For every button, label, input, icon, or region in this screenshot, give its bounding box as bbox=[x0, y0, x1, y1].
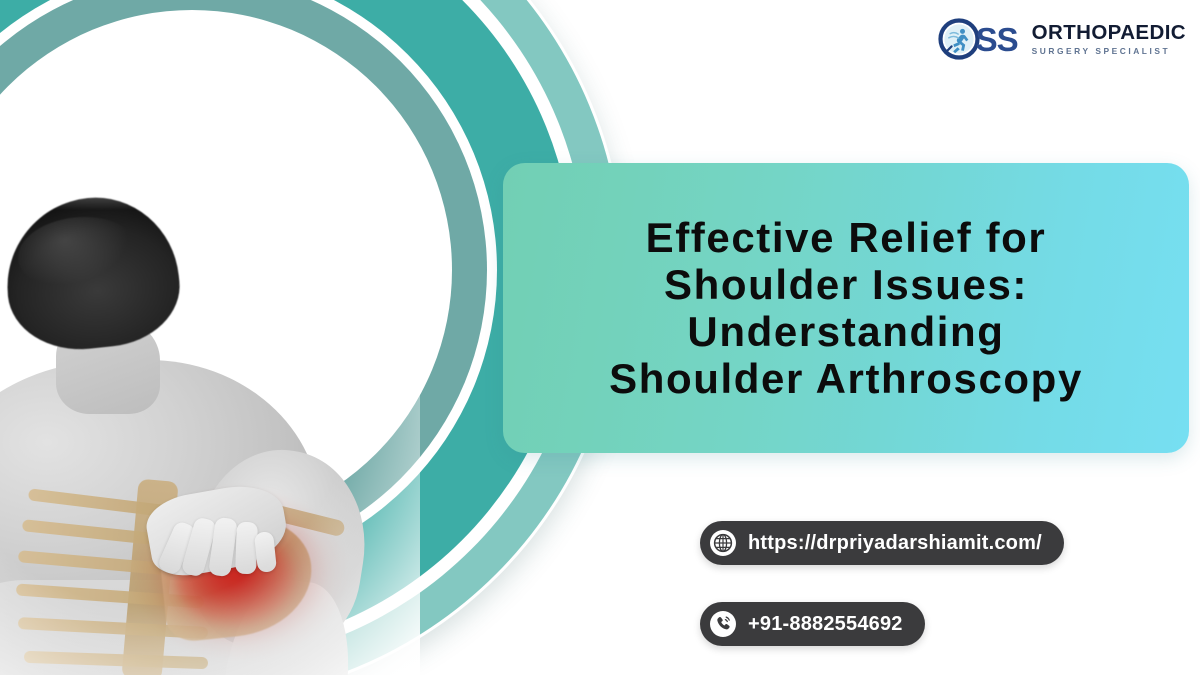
photo-head bbox=[0, 189, 185, 356]
photo-spine-bone bbox=[121, 479, 178, 675]
photo-rib bbox=[16, 583, 204, 608]
logo-subtitle: SURGERY SPECIALIST bbox=[1032, 47, 1186, 55]
photo-finger bbox=[208, 517, 238, 577]
photo-rib bbox=[24, 651, 208, 669]
photo-finger bbox=[254, 531, 277, 573]
photo-finger bbox=[180, 516, 217, 578]
photo-hand bbox=[142, 479, 292, 582]
photo-rib bbox=[18, 617, 208, 639]
decor-ring-inner-disc bbox=[0, 10, 452, 530]
page-title: Effective Relief for Shoulder Issues: Un… bbox=[595, 214, 1097, 402]
headline-line-3: Understanding bbox=[609, 308, 1083, 355]
logo-letters: SS bbox=[976, 23, 1018, 56]
decor-ring-gap-2 bbox=[0, 0, 497, 575]
headline-line-4: Shoulder Arthroscopy bbox=[609, 355, 1083, 402]
photo-finger bbox=[235, 522, 258, 575]
phone-number-text: +91-8882554692 bbox=[748, 614, 903, 634]
banner-root: SS ORTHOPAEDIC SURGERY SPECIALIST Effect… bbox=[0, 0, 1200, 675]
photo-pain-core bbox=[176, 534, 294, 626]
phone-pill[interactable]: +91-8882554692 bbox=[700, 602, 925, 646]
photo-rib bbox=[22, 519, 192, 549]
photo-lower-back bbox=[0, 580, 270, 675]
photo-scapula-bone bbox=[156, 510, 318, 643]
website-url-text: https://drpriyadarshiamit.com/ bbox=[748, 533, 1042, 553]
photo-clavicle-bone bbox=[216, 491, 346, 538]
photo-rib bbox=[28, 488, 188, 519]
photo-neck bbox=[56, 318, 160, 414]
phone-ringing-icon bbox=[710, 611, 736, 637]
logo-wordmark: ORTHOPAEDIC SURGERY SPECIALIST bbox=[1032, 23, 1186, 56]
photo-top-fade bbox=[0, 150, 420, 210]
photo-torso bbox=[0, 360, 320, 675]
decor-ring-inner bbox=[0, 0, 487, 565]
brand-logo[interactable]: SS ORTHOPAEDIC SURGERY SPECIALIST bbox=[938, 18, 1186, 60]
globe-icon bbox=[710, 530, 736, 556]
decor-ring-main bbox=[0, 0, 574, 652]
photo-canvas bbox=[0, 150, 420, 675]
headline-line-2: Shoulder Issues: bbox=[609, 261, 1083, 308]
logo-title: ORTHOPAEDIC bbox=[1032, 21, 1186, 44]
shoulder-pain-photo bbox=[0, 150, 420, 675]
headline-line-1: Effective Relief for bbox=[609, 214, 1083, 261]
decor-ring-gap-1 bbox=[0, 0, 587, 665]
photo-rib bbox=[18, 550, 198, 578]
photo-shoulder bbox=[181, 438, 378, 662]
photo-arm bbox=[207, 573, 359, 675]
photo-finger bbox=[156, 520, 197, 576]
headline-card: Effective Relief for Shoulder Issues: Un… bbox=[503, 163, 1189, 453]
website-pill[interactable]: https://drpriyadarshiamit.com/ bbox=[700, 521, 1064, 565]
photo-edge-fade bbox=[0, 150, 420, 675]
oss-running-figure-icon bbox=[938, 18, 980, 60]
photo-pain-glow bbox=[128, 486, 358, 675]
